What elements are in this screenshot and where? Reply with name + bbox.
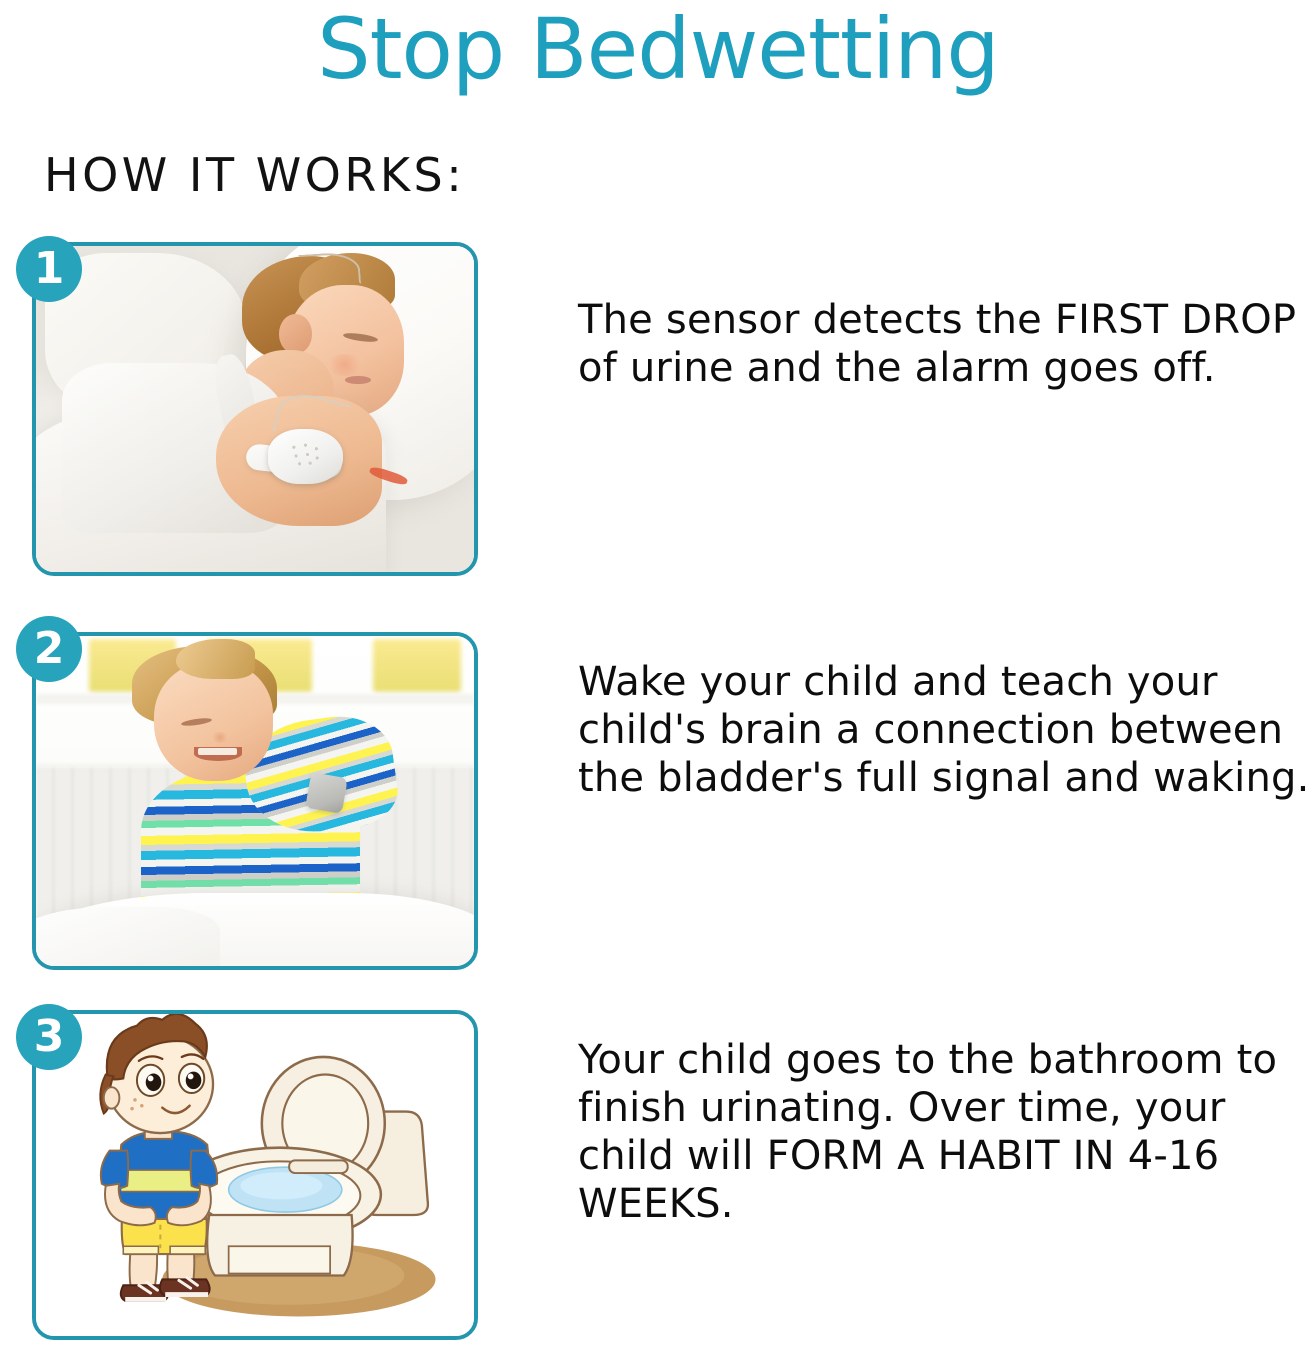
step-badge-1: 1 xyxy=(16,236,82,302)
step-2-image-card xyxy=(32,632,478,970)
section-heading-how-it-works: HOW IT WORKS: xyxy=(44,146,465,204)
step-1-image xyxy=(36,246,474,572)
step-1-image-card xyxy=(32,242,478,576)
step-1-description: The sensor detects the FIRST DROP of uri… xyxy=(578,296,1316,392)
waking-child-photo xyxy=(36,636,474,966)
bathroom-illustration xyxy=(36,1014,474,1336)
sleeping-child-photo xyxy=(36,246,474,572)
step-3-image-card xyxy=(32,1010,478,1340)
boy-and-toilet-illustration xyxy=(36,1014,474,1336)
step-3-description: Your child goes to the bathroom to finis… xyxy=(578,1036,1316,1228)
step-3-image xyxy=(36,1014,474,1336)
step-badge-2: 2 xyxy=(16,616,82,682)
page-title: Stop Bedwetting xyxy=(0,0,1316,104)
step-badge-3: 3 xyxy=(16,1004,82,1070)
step-2-image xyxy=(36,636,474,966)
step-2-description: Wake your child and teach your child's b… xyxy=(578,658,1316,802)
infographic-page: Stop Bedwetting HOW IT WORKS: xyxy=(0,0,1316,1346)
